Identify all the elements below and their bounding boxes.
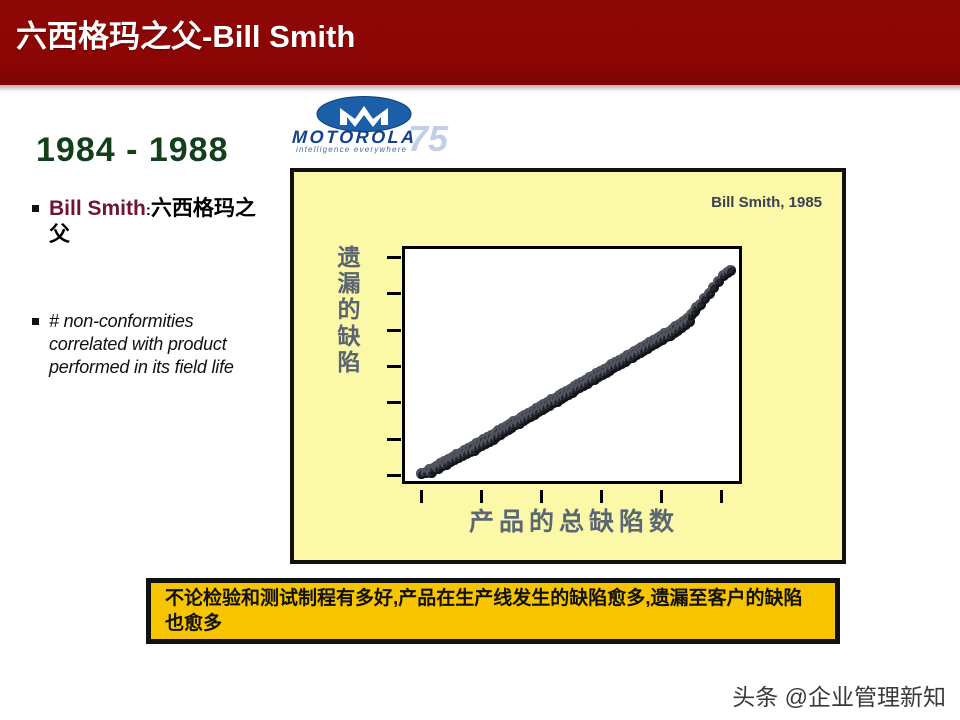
y-axis-title-char: 的 [332, 296, 366, 322]
motorola-tagline: intelligence everywhere [296, 145, 407, 154]
y-axis-title-char: 漏 [332, 270, 366, 296]
x-axis-tick [420, 490, 423, 503]
callout-banner: 不论检验和测试制程有多好,产品在生产线发生的缺陷愈多,遗漏至客户的缺陷也愈多 [146, 578, 840, 644]
bullet-square-icon [32, 205, 39, 212]
watermark-text: 头条 @企业管理新知 [732, 678, 946, 712]
y-axis-tick [387, 474, 401, 477]
bullet-1-text: Bill Smith:六西格玛之父 [49, 196, 272, 247]
bullet-2-text: # non-conformities correlated with produ… [49, 310, 267, 379]
y-axis-title-char: 遗 [332, 244, 366, 270]
y-axis-tick [387, 256, 401, 259]
bullet-1-highlight: Bill Smith [49, 197, 146, 220]
list-item: # non-conformities correlated with produ… [32, 310, 267, 379]
motorola-anniversary-badge: 75 [408, 118, 448, 160]
chart-panel: Bill Smith, 1985 遗漏的缺陷 产品的总缺陷数 [290, 168, 846, 564]
x-axis-tick [480, 490, 483, 503]
x-axis-tick [540, 490, 543, 503]
scatter-plot-area [402, 246, 742, 484]
y-axis-tick [387, 365, 401, 368]
header-shadow [0, 85, 960, 92]
chart-credit-label: Bill Smith, 1985 [711, 194, 822, 211]
x-axis-title: 产品的总缺陷数 [388, 502, 760, 538]
y-axis-tick [387, 329, 401, 332]
year-range-heading: 1984 - 1988 [36, 131, 229, 170]
slide: 六西格玛之父-Bill Smith 1984 - 1988 Bill Smith… [0, 0, 960, 720]
y-axis-tick [387, 292, 401, 295]
y-axis-tick [387, 401, 401, 404]
x-axis-tick [720, 490, 723, 503]
x-axis-tick [660, 490, 663, 503]
scatter-point [725, 265, 736, 276]
y-axis-title-char: 陷 [332, 349, 366, 375]
y-axis-title-char: 缺 [332, 323, 366, 349]
callout-banner-text: 不论检验和测试制程有多好,产品在生产线发生的缺陷愈多,遗漏至客户的缺陷也愈多 [165, 586, 821, 636]
page-title: 六西格玛之父-Bill Smith [16, 11, 355, 56]
y-axis-title: 遗漏的缺陷 [332, 244, 366, 375]
y-axis-tick [387, 438, 401, 441]
plot-wrapper [402, 246, 742, 484]
bullet-square-icon [32, 318, 39, 325]
x-axis-tick [600, 490, 603, 503]
list-item: Bill Smith:六西格玛之父 [32, 196, 272, 247]
motorola-logo: MOTOROLA intelligence everywhere 75 [288, 96, 484, 158]
